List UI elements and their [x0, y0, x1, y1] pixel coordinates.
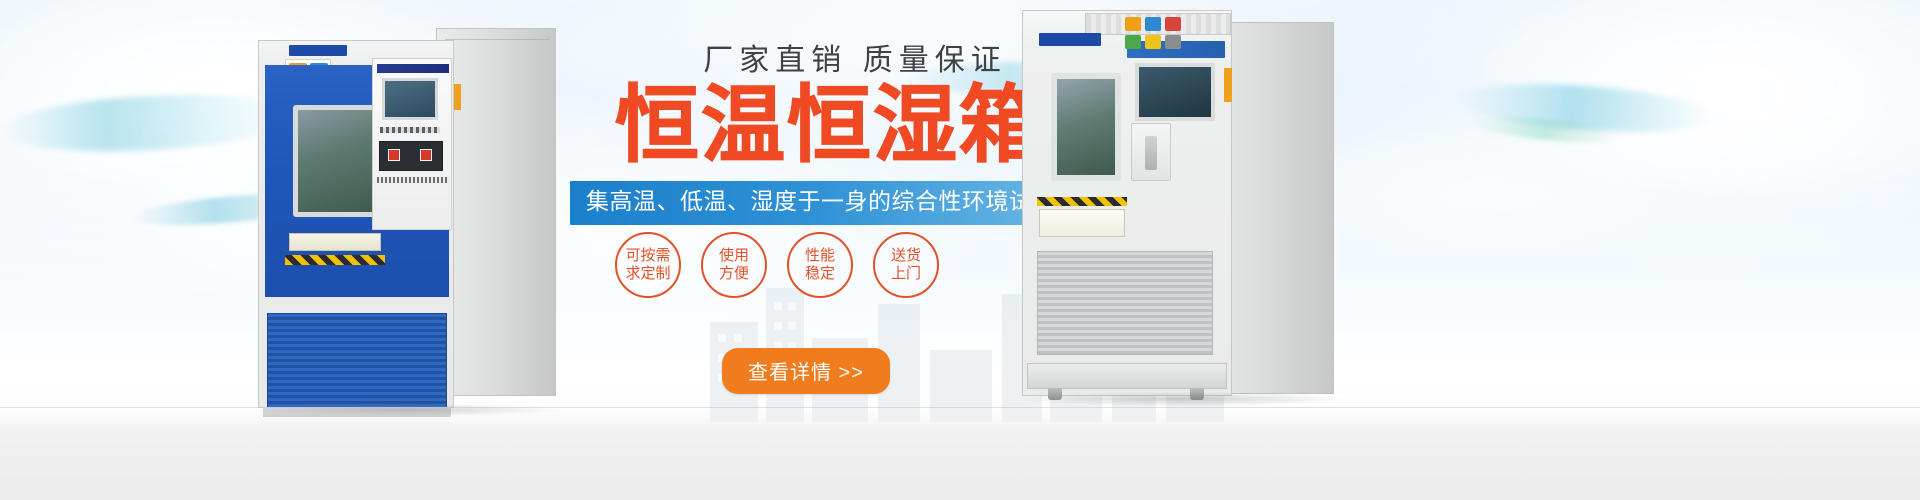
- control-panel-title-bar: [377, 64, 449, 73]
- badge-line-1: 使用: [719, 247, 749, 265]
- right-machine-base: [1027, 363, 1227, 389]
- sticker-red: [1165, 17, 1181, 31]
- left-machine-vent-grille: [267, 313, 447, 409]
- feature-badge-custom[interactable]: 可按需 求定制: [615, 232, 681, 298]
- sticker-blue: [1145, 17, 1161, 31]
- banner-eyebrow: 厂家直销 质量保证: [620, 44, 1090, 77]
- left-machine-orange-marker: [454, 84, 461, 110]
- sticker-yellow: [1145, 35, 1161, 49]
- badge-line-2: 求定制: [625, 265, 670, 283]
- badge-line-1: 可按需: [625, 247, 670, 265]
- badge-line-1: 性能: [805, 247, 835, 265]
- badge-line-2: 上门: [891, 265, 921, 283]
- right-machine-body: [1022, 10, 1232, 396]
- feature-badge-stable[interactable]: 性能 稳定: [787, 232, 853, 298]
- banner-headline: 恒温恒湿箱: [570, 83, 1090, 167]
- product-image-left: [258, 28, 558, 413]
- promo-banner: 厂家直销 质量保证 恒温恒湿箱 集高温、低温、湿度于一身的综合性环境试验仪器 可…: [0, 0, 1920, 500]
- control-panel-footer-text: [377, 177, 449, 183]
- right-machine-brand-logo: [1039, 33, 1101, 46]
- right-machine-side-door: [1131, 123, 1171, 181]
- right-machine-warning-plate: [1039, 209, 1125, 237]
- left-machine-warning-plate: [289, 233, 381, 251]
- left-machine-control-panel: [372, 58, 452, 230]
- sticker-orange: [1125, 17, 1141, 31]
- product-image-right: [1022, 10, 1342, 410]
- control-panel-screen: [382, 78, 438, 120]
- left-machine-brand-logo: [289, 45, 347, 56]
- view-details-button[interactable]: 查看详情 >>: [722, 348, 890, 394]
- feature-badge-easy-use[interactable]: 使用 方便: [701, 232, 767, 298]
- feature-badge-delivery[interactable]: 送货 上门: [873, 232, 939, 298]
- badge-line-2: 方便: [719, 265, 749, 283]
- sticker-green: [1125, 35, 1141, 49]
- sticker-gray: [1165, 35, 1181, 49]
- ground-band: [0, 408, 1920, 500]
- right-machine-hazard-stripe: [1037, 197, 1127, 206]
- right-machine-door-handle: [1145, 136, 1157, 170]
- left-machine-hazard-stripe: [285, 255, 385, 265]
- right-machine-side-panel: [1218, 22, 1334, 394]
- banner-copy-block: 厂家直销 质量保证 恒温恒湿箱 集高温、低温、湿度于一身的综合性环境试验仪器: [570, 44, 1090, 225]
- right-machine-vent-grille: [1037, 251, 1213, 355]
- right-machine-control-screen: [1135, 63, 1215, 121]
- feature-badge-list: 可按需 求定制 使用 方便 性能 稳定 送货 上门: [615, 232, 939, 298]
- right-machine-orange-marker: [1224, 68, 1232, 102]
- right-machine-viewing-window: [1051, 73, 1121, 181]
- panel-button-red: [420, 149, 432, 161]
- control-panel-readout: [380, 127, 440, 133]
- badge-line-2: 稳定: [805, 265, 835, 283]
- right-machine-shadow: [1020, 392, 1346, 406]
- control-panel-buttons: [379, 141, 443, 171]
- panel-button-red: [388, 149, 400, 161]
- badge-line-1: 送货: [891, 247, 921, 265]
